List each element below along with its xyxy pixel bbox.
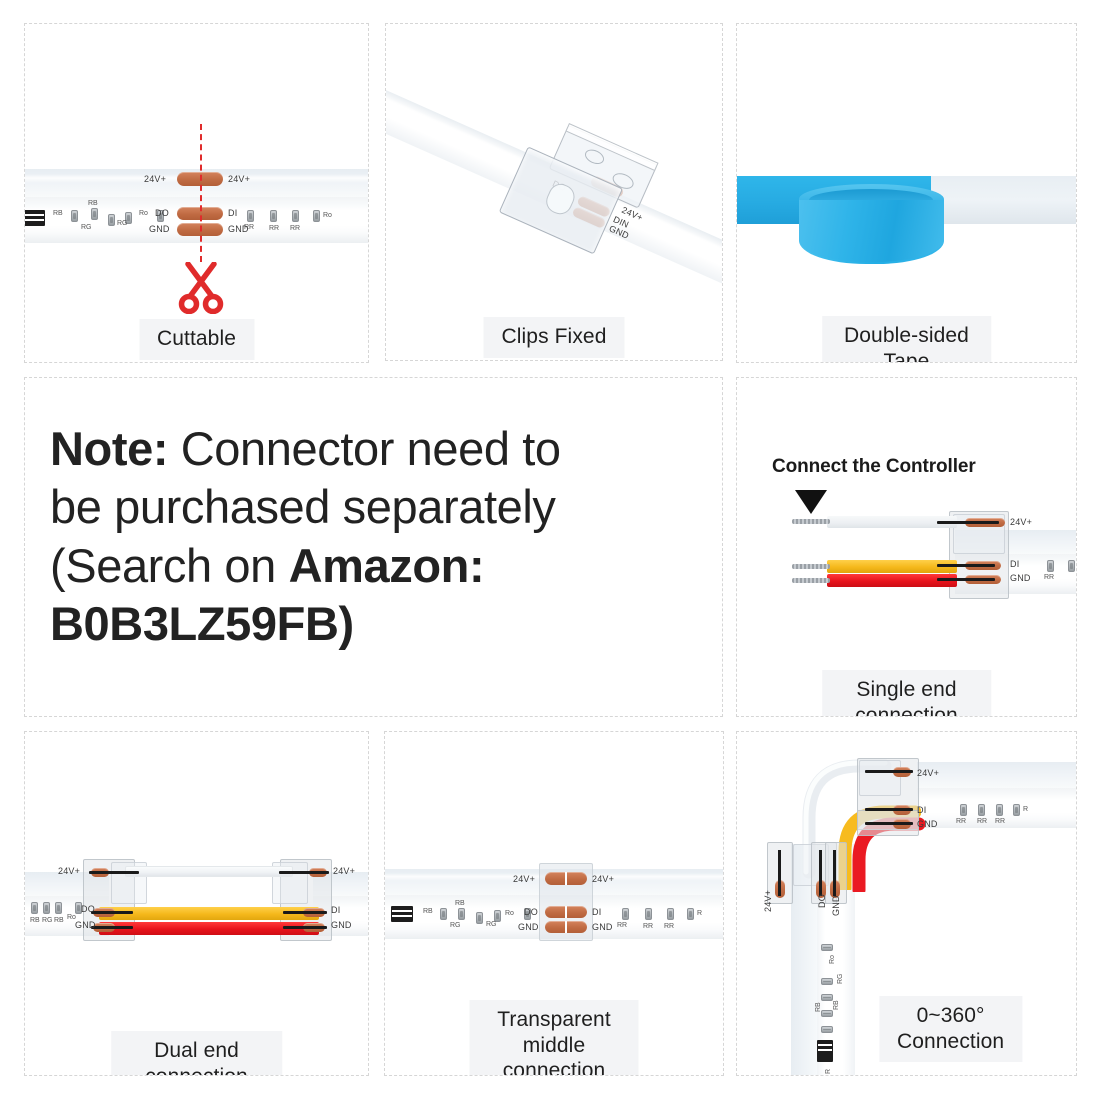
led-label: RG: [450, 922, 461, 929]
fpc-tail-icon: [24, 210, 45, 226]
pad-label-24v-horizontal: 24V+: [917, 768, 939, 778]
wire-tip: [792, 578, 830, 583]
led-label: RG: [117, 220, 128, 227]
pad-label-gnd-vertical: GND: [831, 895, 841, 916]
fpc-tail-icon: [391, 906, 413, 922]
led-chip: [270, 210, 277, 222]
pad-label-do: DO: [155, 208, 169, 218]
pad-label-gnd-right: GND: [228, 224, 249, 234]
panel-caption: 0~360° Connection: [879, 996, 1022, 1062]
pad-label-di: DI: [228, 208, 237, 218]
note-line1-rest: Connector need to: [168, 422, 561, 475]
pad-split-line: [565, 921, 567, 933]
led-label: Ro: [505, 910, 514, 917]
led-label: RR: [269, 225, 279, 232]
note-line2: be purchased separately: [50, 480, 556, 533]
crimp-bar: [865, 822, 913, 825]
led-chip: [821, 944, 833, 951]
note-text: Note: Connector need to be purchased sep…: [50, 420, 710, 653]
panel-clips-fixed: 24V+ DIN GND DO Clips Fixed: [385, 23, 723, 361]
led-label: RR: [290, 225, 300, 232]
led-label: RR: [956, 818, 966, 825]
pad-label-24v: 24V+: [1010, 517, 1032, 527]
led-label: RB: [833, 1000, 840, 1010]
tape-curl-body: [799, 200, 944, 262]
crimp-bar: [91, 911, 133, 914]
pad-label-gnd-left: GND: [75, 920, 96, 930]
led-chip: [687, 908, 694, 920]
wire-tip: [792, 519, 830, 524]
down-arrow-icon: [795, 490, 827, 514]
led-chip: [313, 210, 320, 222]
pad-split-line: [565, 906, 567, 918]
crimp-bar: [865, 808, 913, 811]
pad-label-di: DI: [1010, 559, 1019, 569]
scissors-icon: [178, 262, 224, 314]
pad-label-gnd: GND: [1010, 573, 1031, 583]
tape-liner: [927, 176, 1077, 224]
led-chip: [55, 902, 62, 914]
pad-label-di: DI: [592, 907, 601, 917]
panel-transparent-middle-connection: RB RB RG RG Ro 24V+ 24V+ DO DI GND GND R…: [384, 731, 724, 1076]
led-label: R: [697, 910, 702, 917]
crimp-bar: [937, 564, 995, 567]
crimp-bar: [283, 926, 327, 929]
led-label: RR: [643, 923, 653, 930]
led-chip: [440, 908, 447, 920]
led-chip: [476, 912, 483, 924]
panel-caption: Single end connection: [822, 670, 992, 717]
pad-label-24v-vertical: 24V+: [763, 890, 773, 912]
led-label: RG: [486, 921, 497, 928]
panel-caption: Dual end connection: [111, 1031, 283, 1076]
crimp-bar-vertical: [833, 850, 836, 896]
pad-label-gnd-horizontal: GND: [917, 819, 938, 829]
led-label: RR: [995, 818, 1005, 825]
pad-label-do: DO: [81, 904, 95, 914]
led-label: Ro: [323, 212, 332, 219]
strip-upper-band-horizontal: [917, 762, 1077, 788]
panel-caption: Cuttable: [139, 319, 254, 360]
crimp-bar: [279, 871, 329, 874]
led-label: RB: [88, 200, 98, 207]
note-line3-plain: (Search on: [50, 539, 289, 592]
led-label: RG: [81, 224, 92, 231]
pad-label-gnd-left: GND: [518, 922, 539, 932]
pad-label-24v-right: 24V+: [592, 874, 614, 884]
crimp-bar-vertical: [778, 850, 781, 896]
led-chip: [996, 804, 1003, 816]
panel-angle-connection: 24V+ DI GND RR RR RR R 24V+ DO GND Ro RG: [736, 731, 1077, 1076]
led-chip: [667, 908, 674, 920]
led-label: Ro: [829, 955, 836, 964]
connector-lid-horizontal: [859, 760, 901, 796]
led-label: RG: [42, 917, 53, 924]
pad-label-di-horizontal: DI: [917, 805, 926, 815]
led-chip: [71, 210, 78, 222]
led-label: RB: [423, 908, 433, 915]
pad-label-do-vertical: DO: [817, 894, 827, 908]
led-chip: [960, 804, 967, 816]
fpc-tail-icon: [817, 1040, 833, 1062]
led-chip: [1068, 560, 1075, 572]
pad-label-24v-left: 24V+: [58, 866, 80, 876]
panel-single-end-connection: Connect the Controller RR R 24V+ DI GND …: [736, 377, 1077, 717]
note-amazon-label: Amazon:: [289, 539, 485, 592]
led-label: RR: [664, 923, 674, 930]
led-label: RB: [30, 917, 40, 924]
crimp-bar-vertical: [819, 850, 822, 896]
led-chip: [458, 908, 465, 920]
led-label: R: [1023, 806, 1028, 813]
pad-split-line: [565, 872, 567, 885]
pad-label-24v-right: 24V+: [228, 174, 250, 184]
led-chip: [821, 994, 833, 1001]
pad-label-gnd-right: GND: [331, 920, 352, 930]
wire-24v-jumper: [125, 866, 293, 877]
panel-caption: Double-sided Tape: [822, 316, 992, 363]
crimp-bar: [937, 578, 995, 581]
led-chip: [978, 804, 985, 816]
panel-cuttable: RB RG RB RG Ro RR RR RR Ro 24V+ 24V+ DO …: [24, 23, 369, 363]
led-chip: [247, 210, 254, 222]
infographic-sheet: RB RG RB RG Ro RR RR RR Ro 24V+ 24V+ DO …: [0, 0, 1100, 1100]
panel-dual-end-connection: RB RG RB Ro 24V+ 24V+ DO DI GND GND: [24, 731, 369, 1076]
panel-caption: Transparent middle connection: [470, 1000, 639, 1076]
led-chip: [31, 902, 38, 914]
connect-controller-title: Connect the Controller: [772, 456, 976, 478]
led-label: RB: [455, 900, 465, 907]
led-chip: [645, 908, 652, 920]
led-label: RG: [837, 974, 844, 985]
pad-label-do: DO: [524, 907, 538, 917]
led-label: RB: [815, 1002, 822, 1012]
led-label: RR: [977, 818, 987, 825]
led-label: Ro: [139, 210, 148, 217]
led-chip: [821, 978, 833, 985]
note-label: Note:: [50, 422, 168, 475]
led-chip: [622, 908, 629, 920]
note-asin: B0B3LZ59FB): [50, 597, 354, 650]
crimp-bar: [865, 770, 913, 773]
crimp-bar: [937, 521, 999, 524]
pad-label-24v-right: 24V+: [333, 866, 355, 876]
led-label: RR: [1044, 574, 1054, 581]
panel-note: Note: Connector need to be purchased sep…: [24, 377, 723, 717]
led-label: R: [825, 1069, 832, 1074]
led-chip: [108, 214, 115, 226]
led-label: RB: [53, 210, 63, 217]
crimp-bar: [91, 926, 133, 929]
crimp-bar: [283, 911, 327, 914]
led-chip: [821, 1010, 833, 1017]
led-label: RB: [54, 917, 64, 924]
panel-double-sided-tape: Double-sided Tape: [736, 23, 1077, 363]
panel-caption: Clips Fixed: [484, 317, 625, 358]
pad-label-gnd-left: GND: [149, 224, 170, 234]
led-chip: [91, 208, 98, 220]
cut-line: [200, 124, 202, 262]
pad-label-24v-left: 24V+: [144, 174, 166, 184]
led-chip: [292, 210, 299, 222]
led-label: RR: [617, 922, 627, 929]
pad-label-24v-left: 24V+: [513, 874, 535, 884]
led-chip: [1047, 560, 1054, 572]
pad-label-gnd-right: GND: [592, 922, 613, 932]
pad-label-di: DI: [331, 905, 340, 915]
led-chip: [1013, 804, 1020, 816]
wire-tip: [792, 564, 830, 569]
crimp-bar: [89, 871, 139, 874]
led-chip: [43, 902, 50, 914]
led-chip: [821, 1026, 833, 1033]
